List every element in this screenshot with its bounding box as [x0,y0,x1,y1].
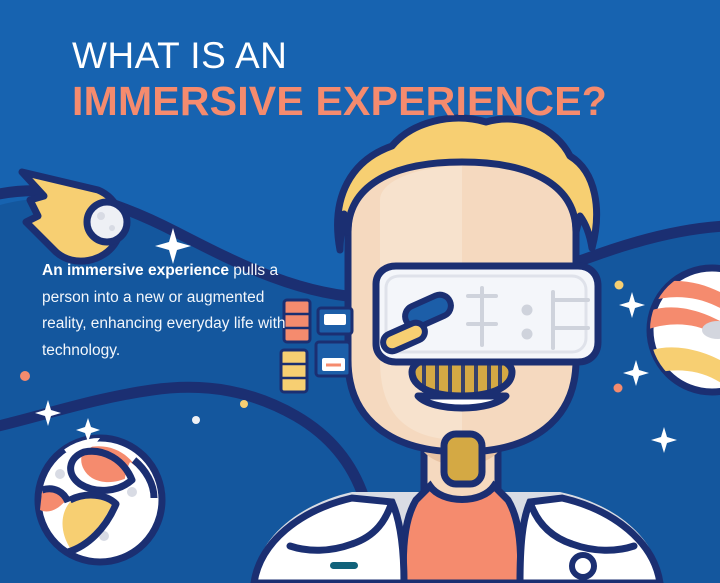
dot-coral-2 [614,384,623,393]
headline-block: WHAT IS AN IMMERSIVE EXPERIENCE? [72,36,607,124]
body-copy: An immersive experience pulls a person i… [42,258,292,364]
dot-white [192,416,200,424]
dot-yellow [615,281,624,290]
pocket-pen [330,562,358,569]
comet-head [87,202,127,242]
card-blue-top [318,308,352,334]
vr-goggles[interactable] [376,266,598,362]
body-copy-block: An immersive experience pulls a person i… [42,258,292,364]
chin-beard [444,434,482,484]
mouth [418,396,506,408]
shirt [403,486,520,583]
headline-line-2: IMMERSIVE EXPERIENCE? [72,78,607,124]
dot-yellow-2 [240,400,248,408]
planet-patched [38,436,162,562]
body-copy-lead: An immersive experience [42,262,229,279]
dot-coral [20,371,30,381]
infographic-canvas: WHAT IS AN IMMERSIVE EXPERIENCE? An imme… [0,0,720,583]
headline-line-1: WHAT IS AN [72,36,607,76]
coat-button [572,555,594,577]
card-blue-bottom [316,342,350,376]
